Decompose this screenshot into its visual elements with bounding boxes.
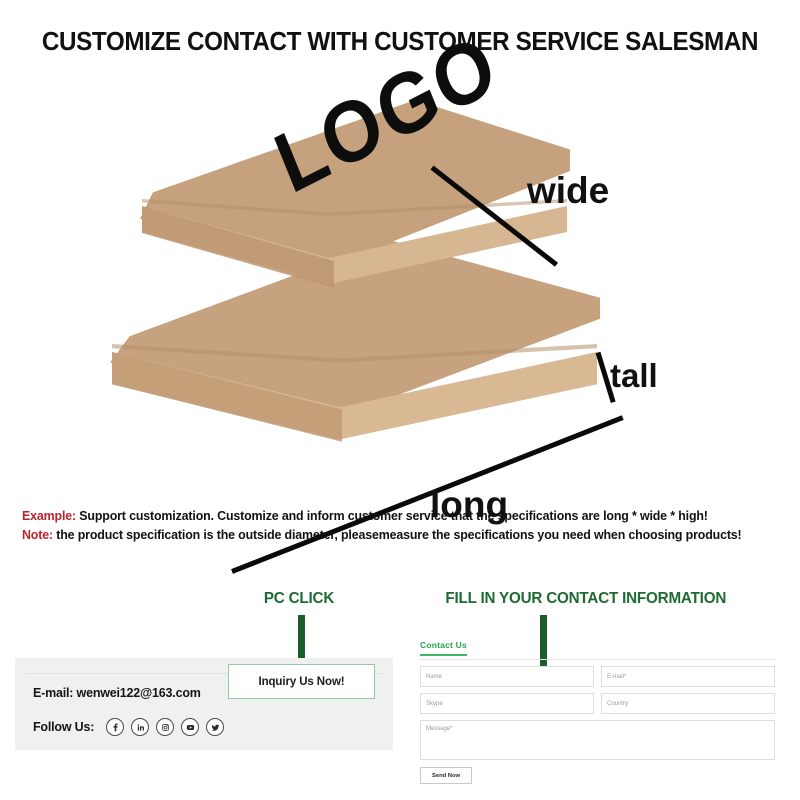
dimension-label-wide: wide — [527, 170, 609, 212]
message-textarea[interactable]: Message* — [420, 720, 775, 760]
skype-input[interactable]: Skype — [420, 693, 594, 714]
upper-box: LOGO — [140, 100, 570, 310]
facebook-icon[interactable] — [106, 718, 124, 736]
name-input[interactable]: Name — [420, 666, 594, 687]
form-row-2: Skype Country — [420, 693, 775, 714]
form-row-1: Name E-mail* — [420, 666, 775, 687]
follow-us-label: Follow Us: — [33, 720, 94, 734]
inquiry-us-now-button[interactable]: Inquiry Us Now! — [228, 664, 375, 699]
callout-pc-click: PC CLICK — [264, 590, 334, 608]
youtube-icon[interactable] — [181, 718, 199, 736]
note-keyword: Note: — [22, 528, 53, 542]
country-input[interactable]: Country — [601, 693, 775, 714]
example-keyword: Example: — [22, 509, 76, 523]
notes-block: Example: Support customization. Customiz… — [22, 508, 792, 546]
contact-form-tabbar: Contact Us — [420, 640, 775, 660]
send-now-button[interactable]: Send Now — [420, 767, 472, 784]
email-address-label: E-mail: wenwei122@163.com — [33, 686, 201, 700]
twitter-icon[interactable] — [206, 718, 224, 736]
tab-contact-us[interactable]: Contact Us — [420, 640, 467, 656]
linkedin-icon[interactable] — [131, 718, 149, 736]
contact-us-form: Contact Us Name E-mail* Skype Country Me… — [420, 640, 775, 784]
product-illustration: LOGO wide tall long — [0, 72, 800, 502]
instagram-icon[interactable] — [156, 718, 174, 736]
note-text: the product specification is the outside… — [53, 528, 742, 542]
email-input[interactable]: E-mail* — [601, 666, 775, 687]
callout-fill-in: FILL IN YOUR CONTACT INFORMATION — [445, 590, 726, 608]
dimension-label-tall: tall — [610, 357, 658, 395]
example-line: Example: Support customization. Customiz… — [22, 508, 780, 524]
follow-us-row: Follow Us: — [33, 718, 224, 736]
note-line: Note: the product specification is the o… — [22, 527, 780, 543]
example-text: Support customization. Customize and inf… — [76, 509, 708, 523]
